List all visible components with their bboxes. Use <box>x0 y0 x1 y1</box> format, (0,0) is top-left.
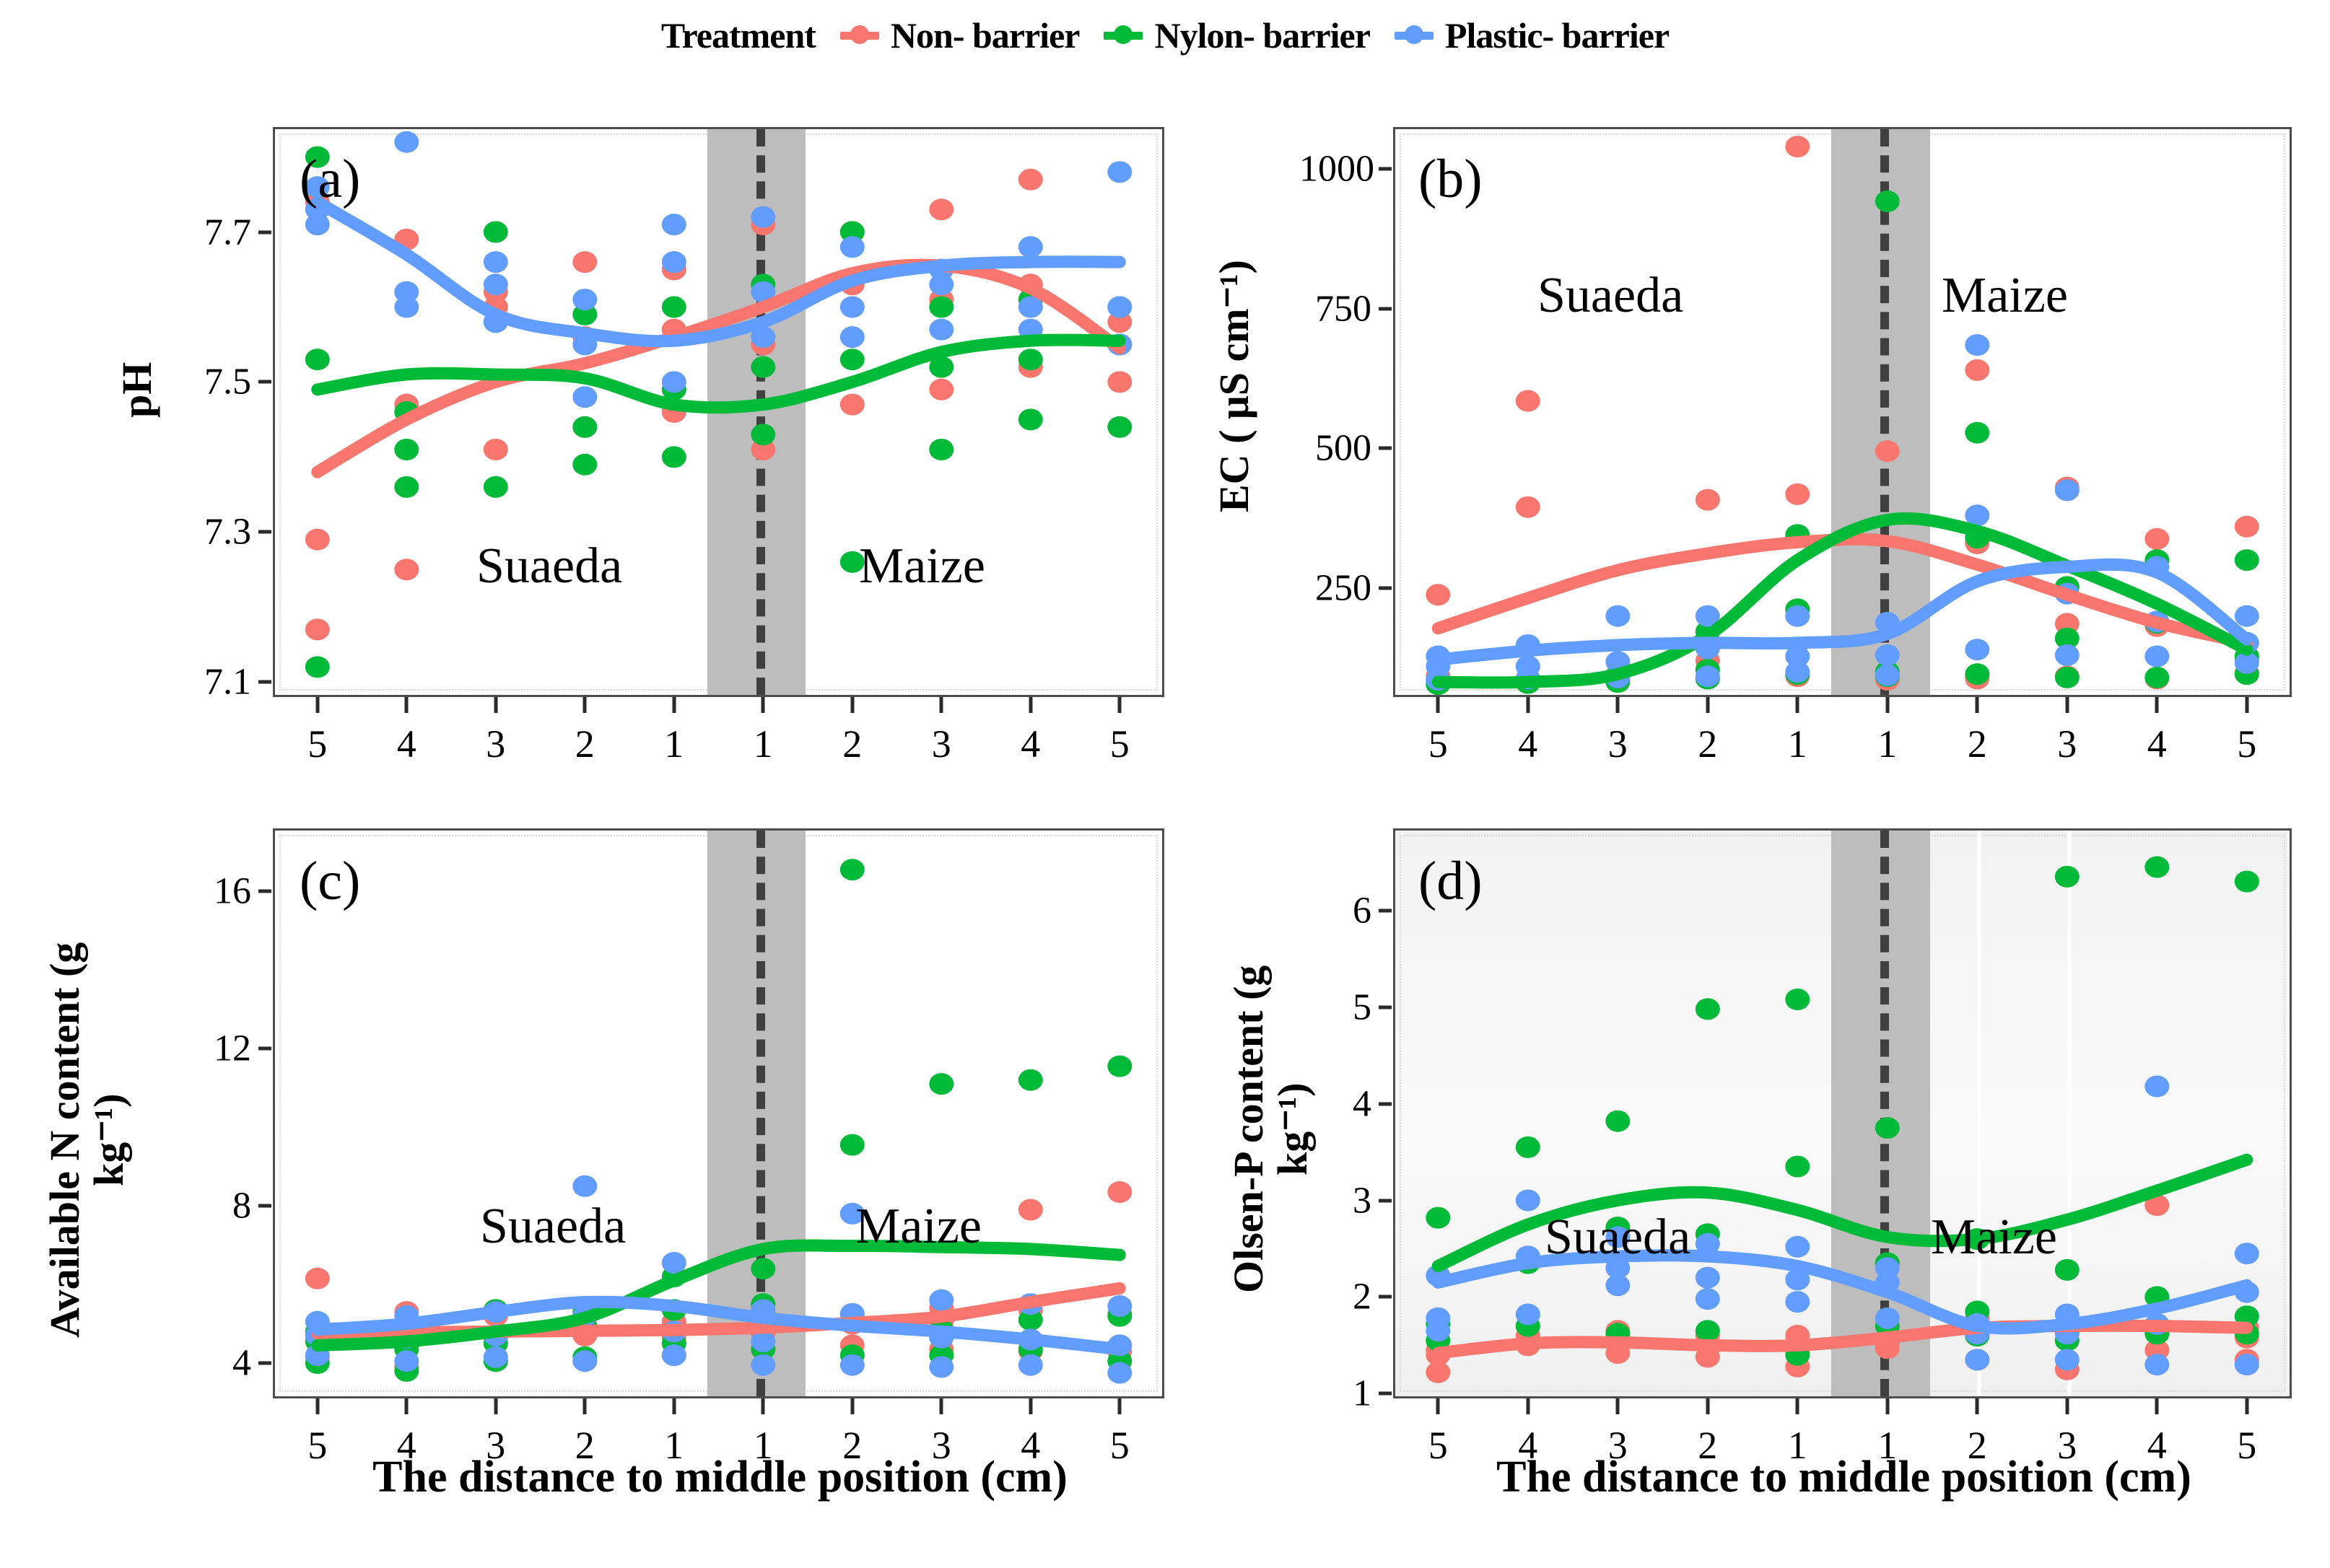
data-point <box>1696 1267 1720 1289</box>
data-point <box>2055 866 2080 888</box>
data-point <box>1516 1304 1540 1326</box>
data-point <box>2144 1354 2169 1375</box>
panel-d-label-suaeda: Suaeda <box>1545 1209 1690 1266</box>
panel-d-y-tick-mark <box>1379 1102 1392 1105</box>
data-point <box>1875 1308 1900 1329</box>
data-point <box>2144 1076 2169 1098</box>
data-point <box>1965 1349 1989 1370</box>
smooth-line <box>1438 1326 2247 1353</box>
panel-d-label-maize: Maize <box>1931 1209 2057 1266</box>
panel-d-y-tick-mark <box>1379 908 1392 912</box>
data-point <box>1785 1156 1810 1178</box>
data-point <box>1696 998 1720 1020</box>
panel-d-y-axis-title: Olsen-P content (g kg⁻¹) <box>1227 927 1335 1331</box>
data-point <box>2235 871 2259 893</box>
data-point <box>1785 1291 1810 1313</box>
panel-d-x-tick-mark <box>1616 1398 1620 1414</box>
panel-d-x-tick-mark <box>2155 1398 2159 1414</box>
data-point <box>2235 1354 2259 1375</box>
data-point <box>1875 1117 1900 1139</box>
panel-d-y-tick-mark <box>1379 1005 1392 1009</box>
data-point <box>1785 989 1810 1010</box>
data-point <box>2144 857 2169 878</box>
data-point <box>1426 1362 1450 1383</box>
panel-d-y-tick-mark <box>1379 1392 1392 1396</box>
panel-d-y-tick-mark <box>1379 1295 1392 1299</box>
panel-d-x-tick-mark <box>1796 1398 1799 1414</box>
panel-d-y-tick-label: 6 <box>1299 889 1371 932</box>
panel-d-x-tick-mark <box>1436 1398 1440 1414</box>
panel-d-x-tick-mark <box>1526 1398 1530 1414</box>
data-point <box>1605 1111 1630 1132</box>
panel-d-data-layer <box>0 0 2330 1568</box>
panel-d-x-axis-title: The distance to middle position (cm) <box>1380 1452 2308 1503</box>
panel-d-x-tick-mark <box>1976 1398 1979 1414</box>
panel-d-x-tick-mark <box>2065 1398 2069 1414</box>
data-point <box>1516 1136 1540 1158</box>
panel-d-y-tick-mark <box>1379 1199 1392 1202</box>
data-point <box>1785 1236 1810 1258</box>
panel-d-x-tick-mark <box>1885 1398 1889 1414</box>
data-point <box>2055 1259 2080 1281</box>
data-point <box>1605 1274 1630 1296</box>
panel-d-y-tick-label: 1 <box>1299 1372 1371 1415</box>
data-point <box>1696 1288 1720 1310</box>
figure-root: Treatment Non- barrier Nylon- barrier Pl… <box>0 0 2330 1568</box>
panel-d-tag: (d) <box>1418 850 1483 913</box>
data-point <box>2055 1349 2080 1370</box>
data-point <box>2235 1243 2259 1264</box>
data-point <box>1426 1207 1450 1229</box>
data-point <box>1696 1320 1720 1341</box>
panel-d-x-tick-mark <box>2245 1398 2248 1414</box>
data-point <box>1516 1190 1540 1212</box>
panel-d-x-tick-mark <box>1706 1398 1709 1414</box>
data-point <box>1426 1320 1450 1341</box>
